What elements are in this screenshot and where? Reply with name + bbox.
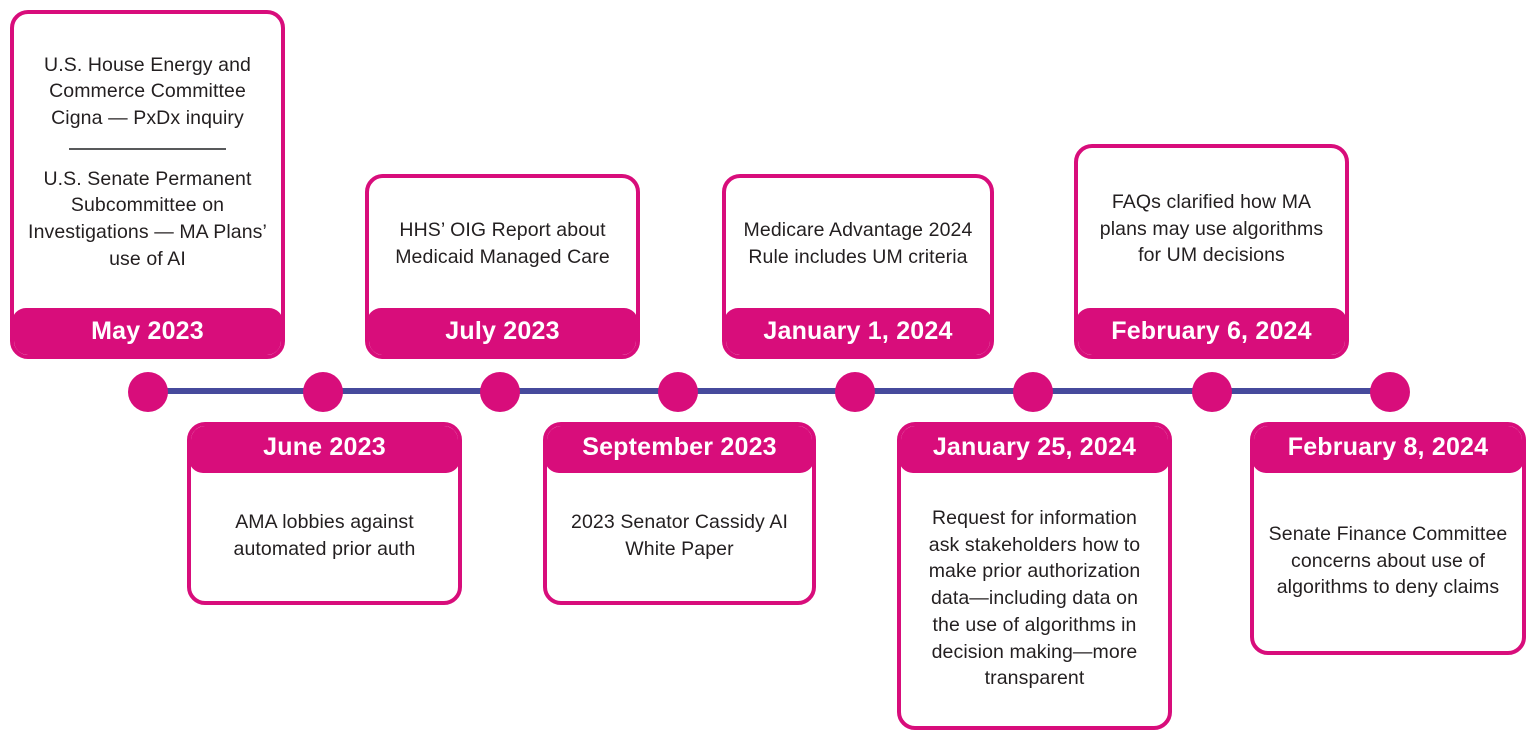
timeline-card-january-25-2024[interactable]: Request for information ask stakeholders…	[897, 422, 1172, 730]
card-body-january-25-2024: Request for information ask stakeholders…	[901, 471, 1168, 726]
timeline-dot-6	[1013, 372, 1053, 412]
timeline-dot-2	[303, 372, 343, 412]
card-body-january-1-2024: Medicare Advantage 2024 Rule includes UM…	[726, 178, 990, 310]
timeline-card-july-2023[interactable]: HHS’ OIG Report about Medicaid Managed C…	[365, 174, 640, 359]
card-date-january-25-2024: January 25, 2024	[899, 424, 1170, 473]
card-body-february-6-2024: FAQs clarified how MA plans may use algo…	[1078, 148, 1345, 310]
card-text-february-6-2024-1: FAQs clarified how MA plans may use algo…	[1092, 189, 1331, 269]
card-date-may-2023: May 2023	[12, 308, 283, 357]
card-date-february-6-2024: February 6, 2024	[1076, 308, 1347, 357]
card-text-january-1-2024-1: Medicare Advantage 2024 Rule includes UM…	[740, 217, 976, 270]
timeline-card-june-2023[interactable]: AMA lobbies against automated prior auth…	[187, 422, 462, 605]
timeline-card-february-6-2024[interactable]: FAQs clarified how MA plans may use algo…	[1074, 144, 1349, 359]
timeline-dot-3	[480, 372, 520, 412]
card-divider-may-2023	[69, 148, 227, 150]
card-text-february-8-2024-1: Senate Finance Committee concerns about …	[1268, 521, 1508, 601]
card-text-january-25-2024-1: Request for information ask stakeholders…	[915, 505, 1154, 692]
card-text-may-2023-2: U.S. Senate Permanent Subcommittee on In…	[28, 166, 267, 273]
timeline-card-september-2023[interactable]: 2023 Senator Cassidy AI White PaperSepte…	[543, 422, 816, 605]
card-body-june-2023: AMA lobbies against automated prior auth	[191, 471, 458, 601]
card-body-february-8-2024: Senate Finance Committee concerns about …	[1254, 471, 1522, 651]
card-date-september-2023: September 2023	[545, 424, 814, 473]
card-body-september-2023: 2023 Senator Cassidy AI White Paper	[547, 471, 812, 601]
timeline-dot-8	[1370, 372, 1410, 412]
card-text-july-2023-1: HHS’ OIG Report about Medicaid Managed C…	[383, 217, 622, 270]
card-text-september-2023-1: 2023 Senator Cassidy AI White Paper	[561, 509, 798, 562]
timeline-diagram: U.S. House Energy and Commerce Committee…	[0, 0, 1536, 743]
card-date-july-2023: July 2023	[367, 308, 638, 357]
card-text-june-2023-1: AMA lobbies against automated prior auth	[205, 509, 444, 562]
card-date-january-1-2024: January 1, 2024	[724, 308, 992, 357]
timeline-dot-4	[658, 372, 698, 412]
timeline-card-may-2023[interactable]: U.S. House Energy and Commerce Committee…	[10, 10, 285, 359]
card-date-june-2023: June 2023	[189, 424, 460, 473]
timeline-dot-5	[835, 372, 875, 412]
card-body-may-2023: U.S. House Energy and Commerce Committee…	[14, 14, 281, 310]
timeline-dot-1	[128, 372, 168, 412]
card-body-july-2023: HHS’ OIG Report about Medicaid Managed C…	[369, 178, 636, 310]
timeline-dot-7	[1192, 372, 1232, 412]
card-text-may-2023-1: U.S. House Energy and Commerce Committee…	[28, 52, 267, 132]
timeline-card-february-8-2024[interactable]: Senate Finance Committee concerns about …	[1250, 422, 1526, 655]
card-date-february-8-2024: February 8, 2024	[1252, 424, 1524, 473]
timeline-card-january-1-2024[interactable]: Medicare Advantage 2024 Rule includes UM…	[722, 174, 994, 359]
